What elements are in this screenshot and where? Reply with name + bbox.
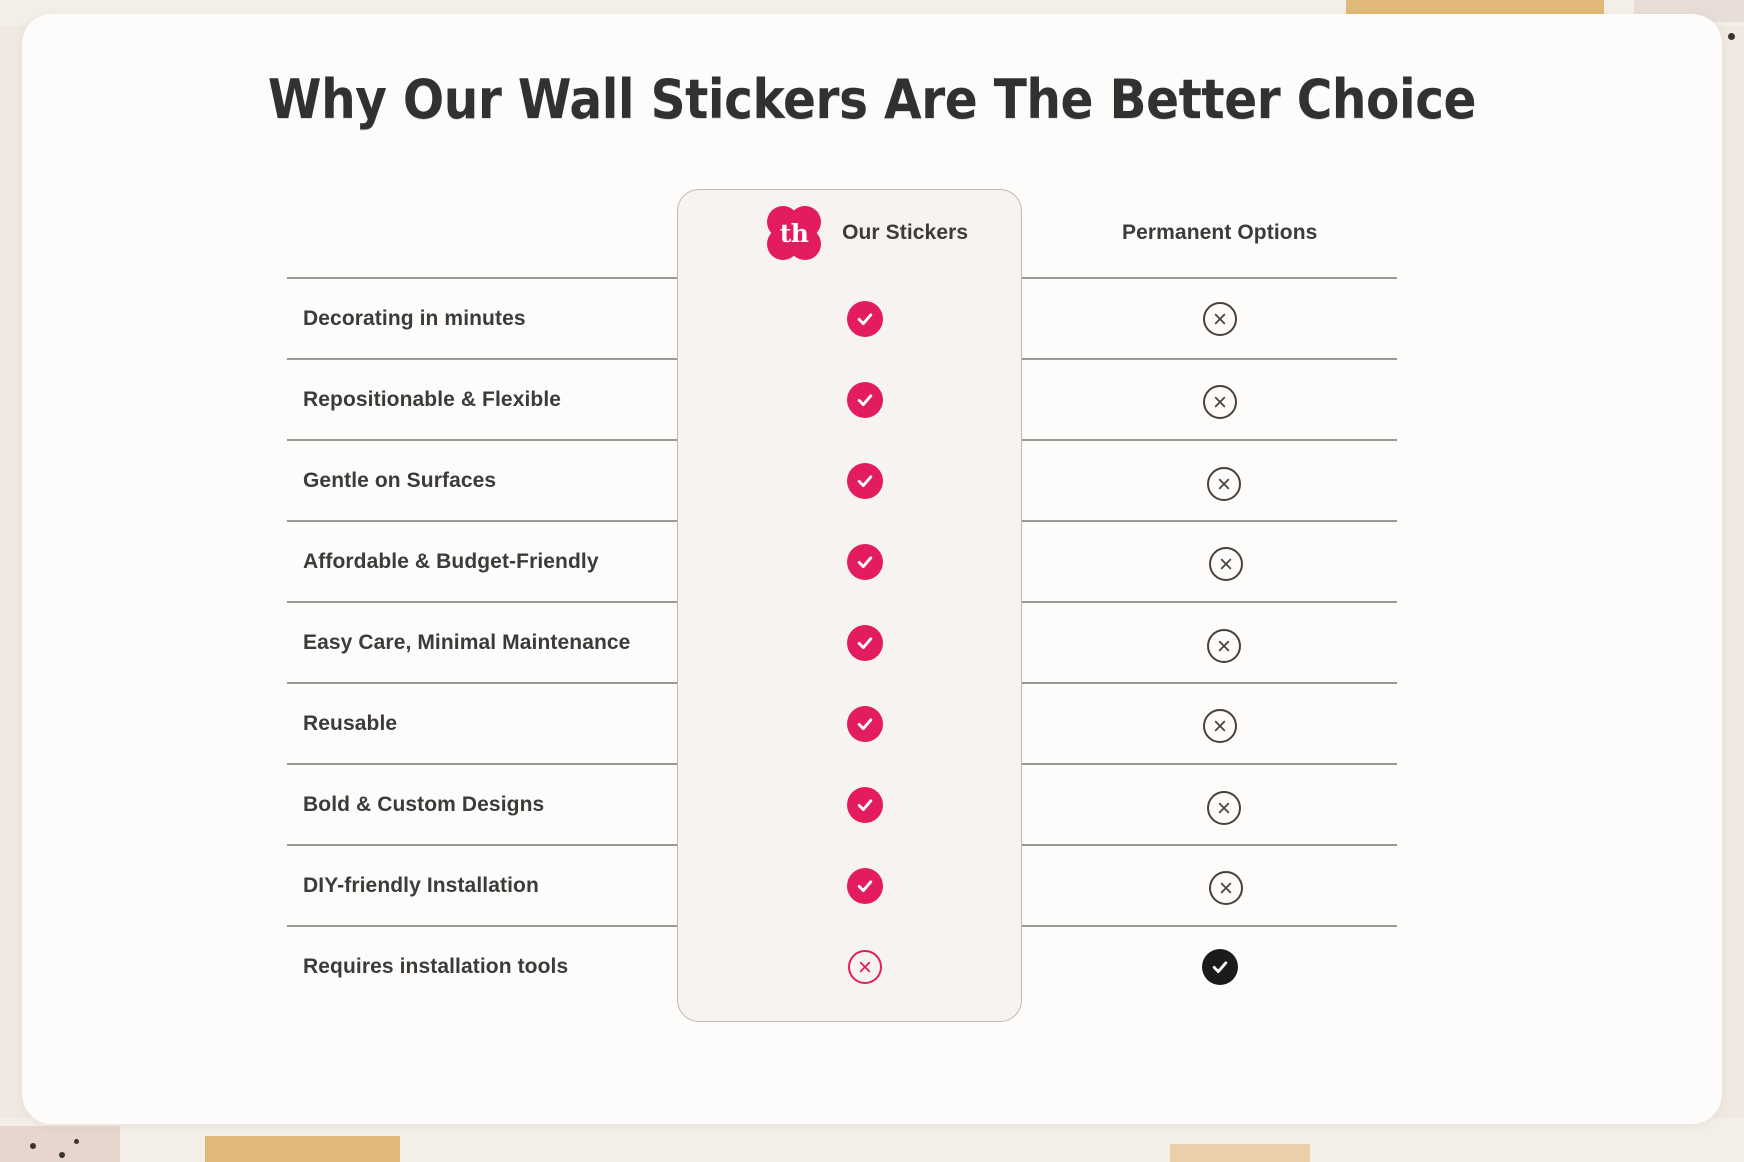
table-row: Easy Care, Minimal Maintenance (287, 602, 1397, 683)
cell-our-stickers (688, 683, 1043, 764)
feature-label: Affordable & Budget-Friendly (287, 550, 688, 574)
cell-our-stickers (688, 764, 1043, 845)
feature-cell: Gentle on Surfaces (287, 440, 688, 521)
comparison-table: th Our Stickers Permanent Options Decora… (287, 189, 1397, 1006)
page-title: Why Our Wall Stickers Are The Better Cho… (107, 68, 1637, 131)
feature-label: DIY-friendly Installation (287, 874, 688, 898)
feature-label: Decorating in minutes (287, 307, 688, 331)
x-circle-outline-gray-icon (1203, 709, 1237, 743)
check-circle-filled-pink-icon (847, 787, 883, 823)
feature-label: Gentle on Surfaces (287, 469, 688, 493)
cell-permanent-options (1042, 359, 1397, 440)
check-circle-filled-pink-icon (847, 382, 883, 418)
comparison-card: Why Our Wall Stickers Are The Better Cho… (22, 14, 1722, 1124)
cell-permanent-options (1042, 683, 1397, 764)
x-circle-outline-gray-icon (1203, 385, 1237, 419)
mark-container (688, 846, 1043, 925)
table-row: Reusable (287, 683, 1397, 764)
check-circle-filled-pink-icon (847, 868, 883, 904)
feature-label: Requires installation tools (287, 955, 688, 979)
mark-container (688, 603, 1043, 682)
cell-our-stickers (688, 278, 1043, 359)
check-circle-filled-black-icon (1202, 949, 1238, 985)
mark-container (1042, 279, 1397, 358)
feature-cell: Decorating in minutes (287, 278, 688, 359)
header-cell-feature (287, 189, 688, 278)
x-circle-outline-gray-icon (1207, 629, 1241, 663)
cell-permanent-options (1042, 602, 1397, 683)
background-dot (1728, 33, 1735, 40)
x-circle-outline-gray-icon (1203, 302, 1237, 336)
comparison-table-body: Decorating in minutesRepositionable & Fl… (287, 278, 1397, 1006)
brand-initials: th (780, 221, 809, 246)
cell-our-stickers (688, 845, 1043, 926)
comparison-table-wrapper: th Our Stickers Permanent Options Decora… (287, 189, 1397, 1006)
mark-container (688, 360, 1043, 439)
table-row: Gentle on Surfaces (287, 440, 1397, 521)
feature-cell: DIY-friendly Installation (287, 845, 688, 926)
mark-container (1042, 441, 1397, 520)
cell-permanent-options (1042, 278, 1397, 359)
background-band-bottom (205, 1136, 400, 1162)
mark-container (1042, 846, 1397, 925)
mark-container (688, 684, 1043, 763)
cell-our-stickers (688, 440, 1043, 521)
background-dot (59, 1152, 65, 1158)
x-circle-outline-gray-icon (1207, 791, 1241, 825)
check-circle-filled-pink-icon (847, 463, 883, 499)
check-circle-filled-pink-icon (847, 301, 883, 337)
feature-cell: Repositionable & Flexible (287, 359, 688, 440)
mark-container (688, 765, 1043, 844)
cell-permanent-options (1042, 764, 1397, 845)
check-circle-filled-pink-icon (847, 544, 883, 580)
mark-container (1042, 927, 1397, 1006)
feature-cell: Reusable (287, 683, 688, 764)
header-cell-our-stickers: th Our Stickers (688, 189, 1043, 278)
mark-container (1042, 603, 1397, 682)
mark-container (1042, 765, 1397, 844)
table-row: Repositionable & Flexible (287, 359, 1397, 440)
cell-our-stickers (688, 602, 1043, 683)
feature-label: Reusable (287, 712, 688, 736)
feature-label: Bold & Custom Designs (287, 793, 688, 817)
cell-our-stickers (688, 359, 1043, 440)
feature-cell: Affordable & Budget-Friendly (287, 521, 688, 602)
mark-container (1042, 684, 1397, 763)
table-row: Bold & Custom Designs (287, 764, 1397, 845)
cell-our-stickers (688, 926, 1043, 1006)
cell-permanent-options (1042, 440, 1397, 521)
table-row: Decorating in minutes (287, 278, 1397, 359)
mark-container (1042, 522, 1397, 601)
feature-cell: Bold & Custom Designs (287, 764, 688, 845)
table-row: Requires installation tools (287, 926, 1397, 1006)
table-row: Affordable & Budget-Friendly (287, 521, 1397, 602)
mark-container (1042, 360, 1397, 439)
cell-permanent-options (1042, 521, 1397, 602)
table-row: DIY-friendly Installation (287, 845, 1397, 926)
check-circle-filled-pink-icon (847, 625, 883, 661)
mark-container (688, 279, 1043, 358)
table-header-row: th Our Stickers Permanent Options (287, 189, 1397, 278)
mark-container (688, 927, 1043, 1006)
check-circle-filled-pink-icon (847, 706, 883, 742)
cell-our-stickers (688, 521, 1043, 602)
mark-container (688, 522, 1043, 601)
x-circle-outline-gray-icon (1209, 547, 1243, 581)
x-circle-outline-pink-icon (848, 950, 882, 984)
background-dot (30, 1143, 36, 1149)
background-dot (74, 1139, 79, 1144)
column-label-permanent-options: Permanent Options (1122, 221, 1317, 245)
x-circle-outline-gray-icon (1209, 871, 1243, 905)
background-band-bottom-2 (1170, 1144, 1310, 1162)
column-label-our-stickers: Our Stickers (842, 221, 968, 245)
cell-permanent-options (1042, 845, 1397, 926)
feature-cell: Requires installation tools (287, 926, 688, 1006)
header-cell-permanent-options: Permanent Options (1042, 189, 1397, 278)
mark-container (688, 441, 1043, 520)
brand-clover-logo-icon: th (762, 201, 826, 265)
feature-cell: Easy Care, Minimal Maintenance (287, 602, 688, 683)
x-circle-outline-gray-icon (1207, 467, 1241, 501)
feature-label: Easy Care, Minimal Maintenance (287, 631, 688, 655)
cell-permanent-options (1042, 926, 1397, 1006)
feature-label: Repositionable & Flexible (287, 388, 688, 412)
